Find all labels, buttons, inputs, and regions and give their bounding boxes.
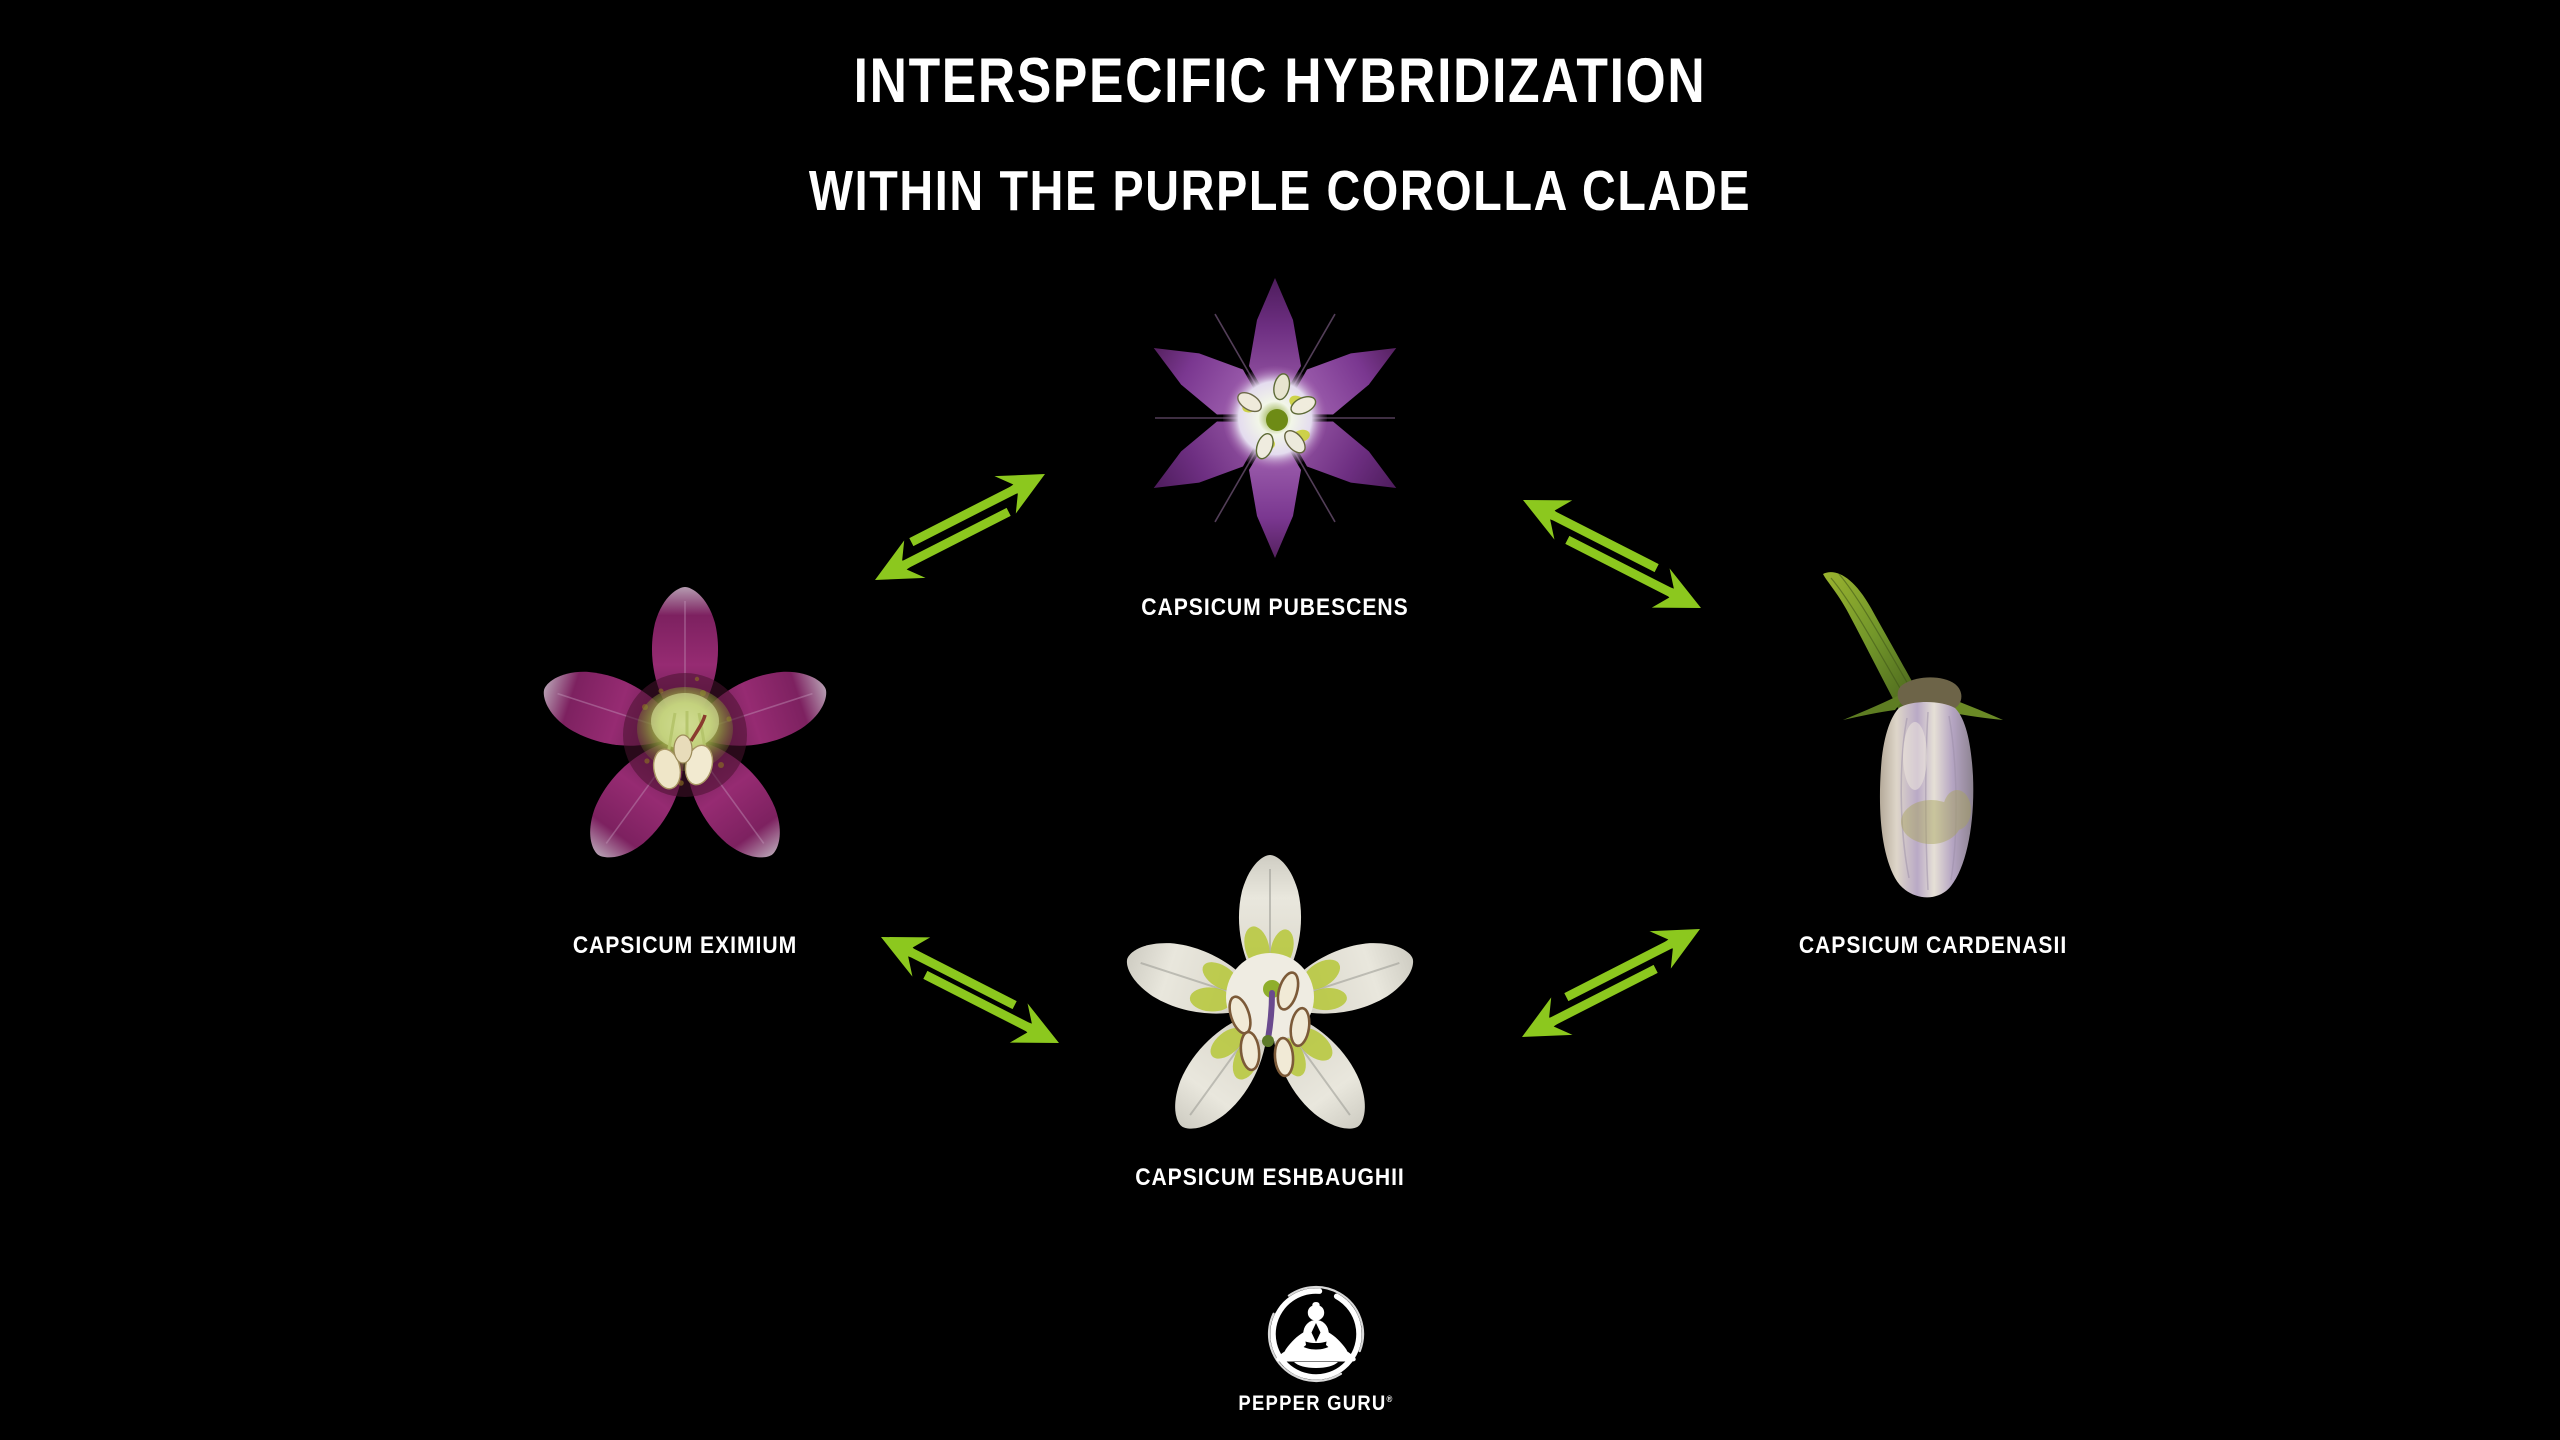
node-capsicum-cardenasii[interactable] <box>1795 560 2065 920</box>
flower-image-pubescens <box>1125 268 1425 568</box>
arrow-eximium-to-pubescens <box>902 455 1055 561</box>
arrow-cardenasii-to-pubescens <box>1513 480 1666 586</box>
node-label-capsicum-eximium: CAPSICUM EXIMIUM <box>518 932 852 960</box>
logo-wordmark: PEPPER GURU® <box>1210 1392 1421 1416</box>
arrow-pubescens-to-cardenasii <box>1557 521 1710 627</box>
flower-image-eshbaughii <box>1115 855 1425 1155</box>
arrow-pair-pubescens-cardenasii <box>1505 478 1735 628</box>
arrow-eshbaughii-to-cardenasii <box>1557 910 1710 1016</box>
title-line-1: INTERSPECIFIC HYBRIDIZATION <box>230 46 2329 116</box>
title-block: INTERSPECIFIC HYBRIDIZATION WITHIN THE P… <box>0 46 2560 224</box>
infographic-canvas: { "page": { "background_color": "#000000… <box>0 0 2560 1440</box>
flower-image-eximium <box>535 585 835 885</box>
flower-image-cardenasii <box>1795 560 2065 920</box>
node-label-capsicum-eshbaughii: CAPSICUM ESHBAUGHII <box>1131 1164 1409 1192</box>
node-capsicum-pubescens[interactable] <box>1125 268 1425 568</box>
arrow-pair-cardenasii-eshbaughii <box>1500 905 1740 1060</box>
node-capsicum-eximium[interactable] <box>535 585 835 885</box>
arrow-pair-eximium-pubescens <box>855 452 1085 602</box>
logo-block[interactable]: PEPPER GURU® <box>1196 1282 1436 1416</box>
arrow-eximium-to-eshbaughii <box>915 956 1068 1062</box>
pepper-guru-logo-icon <box>1264 1282 1368 1386</box>
title-line-2: WITHIN THE PURPLE COROLLA CLADE <box>230 158 2329 224</box>
trademark-symbol: ® <box>1386 1394 1393 1404</box>
node-capsicum-eshbaughii[interactable] <box>1115 855 1425 1155</box>
node-label-capsicum-pubescens: CAPSICUM PUBESCENS <box>1140 594 1409 622</box>
node-label-capsicum-cardenasii: CAPSICUM CARDENASII <box>1770 932 2096 960</box>
arrow-pubescens-to-eximium <box>865 492 1018 598</box>
arrow-eshbaughii-to-eximium <box>871 917 1024 1023</box>
arrow-pair-eshbaughii-eximium <box>865 915 1095 1065</box>
logo-wordmark-text: PEPPER GURU <box>1238 1392 1386 1415</box>
arrow-cardenasii-to-eshbaughii <box>1512 949 1665 1055</box>
